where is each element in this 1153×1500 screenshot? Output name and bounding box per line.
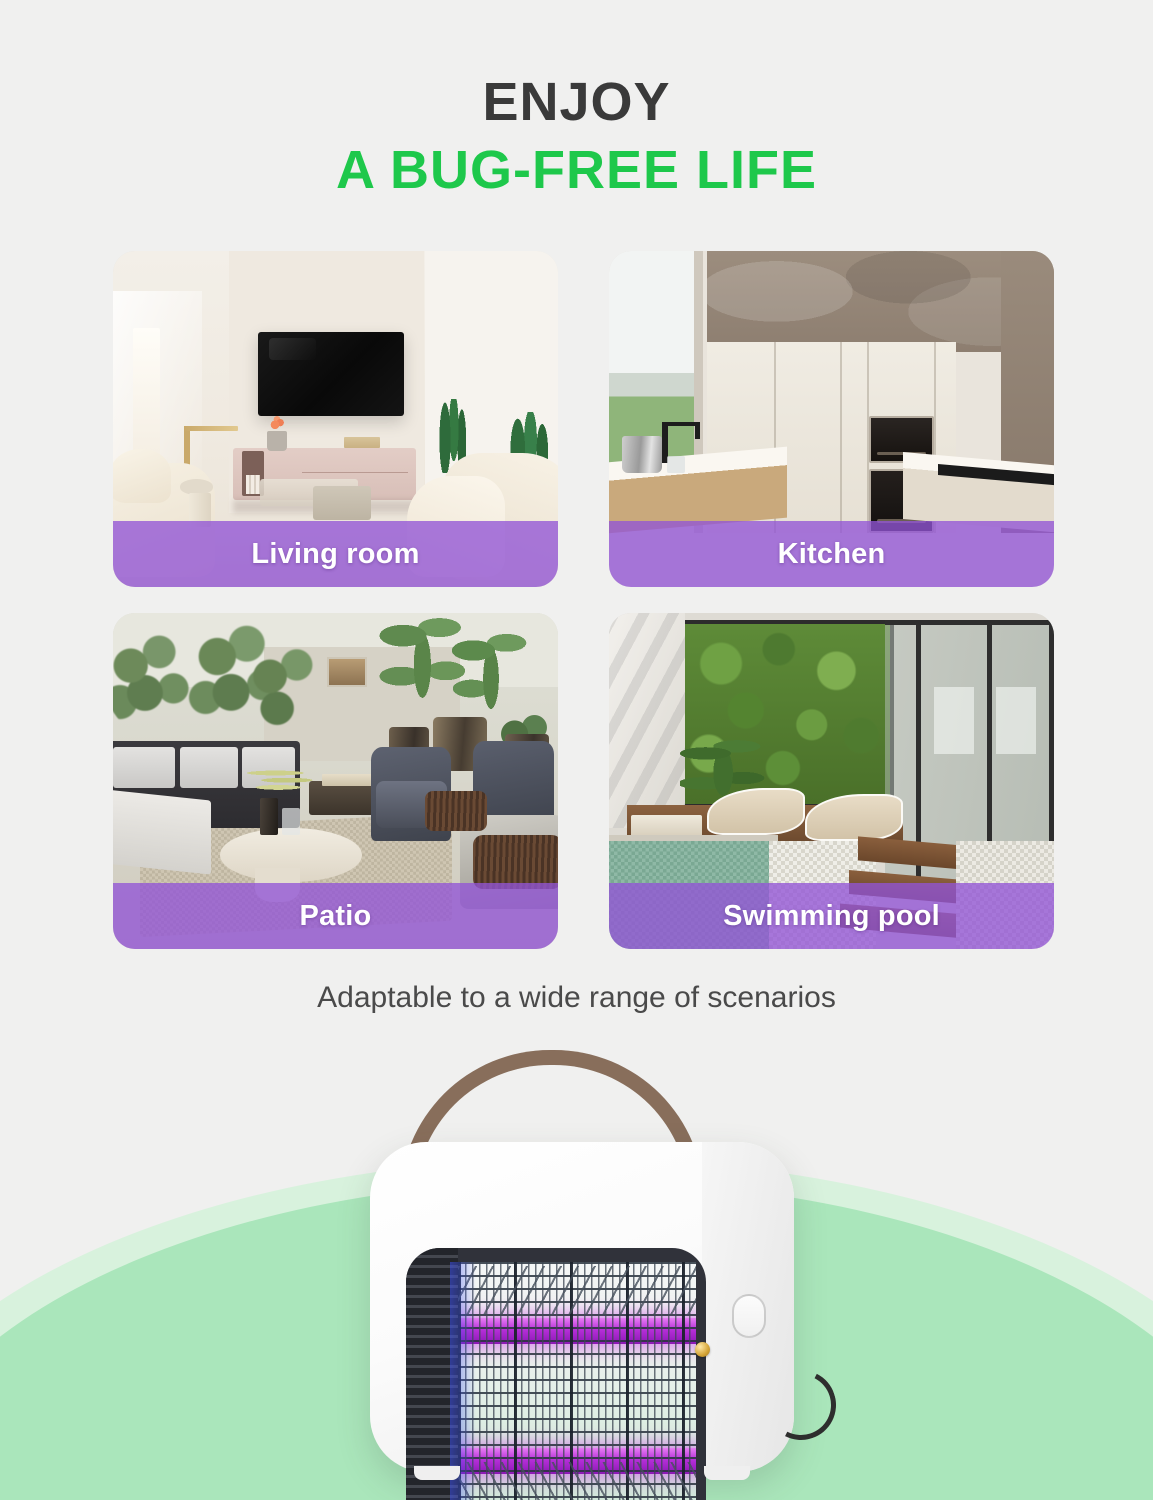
- inner-blue-glow: [450, 1262, 476, 1500]
- power-button[interactable]: [732, 1294, 766, 1338]
- grid-zigzag-bottom: [458, 1462, 696, 1500]
- card-label-band: Kitchen: [609, 521, 1054, 587]
- scenario-card-patio[interactable]: Patio: [113, 613, 558, 949]
- device-body: buzbug: [370, 1142, 794, 1472]
- scenario-card-living-room[interactable]: Living room: [113, 251, 558, 587]
- scenario-label: Swimming pool: [723, 900, 940, 933]
- device-foot-left: [414, 1466, 460, 1480]
- grid-zigzag-top: [458, 1266, 696, 1314]
- scenario-card-swimming-pool[interactable]: Swimming pool: [609, 613, 1054, 949]
- page-heading: ENJOY A BUG-FREE LIFE: [0, 72, 1153, 201]
- product-image: buzbug: [352, 1050, 812, 1480]
- scenarios-caption: Adaptable to a wide range of scenarios: [0, 981, 1153, 1015]
- card-label-band: Patio: [113, 883, 558, 949]
- scenario-label: Kitchen: [778, 538, 886, 571]
- grille-panel: buzbug: [406, 1248, 706, 1500]
- scenario-label: Patio: [300, 900, 372, 933]
- brass-rivet: [695, 1342, 710, 1357]
- scenario-grid: Living room Kitchen: [113, 251, 1054, 949]
- heading-line-1: ENJOY: [0, 72, 1153, 132]
- product-stage: buzbug: [0, 1030, 1153, 1500]
- heading-line-2: A BUG-FREE LIFE: [0, 140, 1153, 200]
- tv-illustration: [258, 332, 405, 416]
- scenario-card-kitchen[interactable]: Kitchen: [609, 251, 1054, 587]
- scenario-label: Living room: [251, 538, 419, 571]
- card-label-band: Living room: [113, 521, 558, 587]
- card-label-band: Swimming pool: [609, 883, 1054, 949]
- electric-grid-screen: [458, 1262, 696, 1500]
- device-foot-right: [704, 1466, 750, 1480]
